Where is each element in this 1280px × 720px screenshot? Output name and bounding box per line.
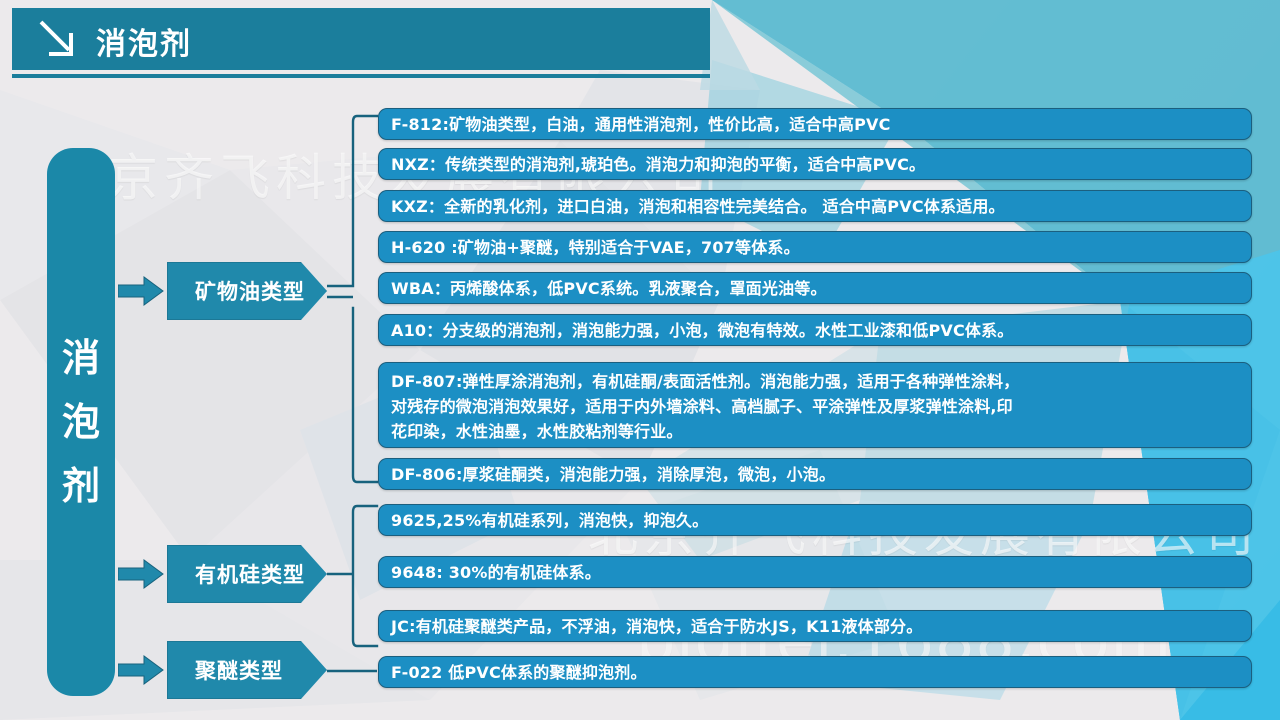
detail-text-2: KXZ：全新的乳化剂，进口白油，消泡和相容性完美结合。 适合中高PVC体系适用。 xyxy=(391,196,1005,217)
detail-box-8[interactable]: 9625,25%有机硅系列，消泡快，抑泡久。 xyxy=(378,504,1252,536)
detail-box-9[interactable]: 9648: 30%的有机硅体系。 xyxy=(378,556,1252,588)
category-label-1: 有机硅类型 xyxy=(195,559,305,589)
category-node-silicone[interactable]: 有机硅类型 xyxy=(167,545,327,603)
detail-text-11: F-022 低PVC体系的聚醚抑泡剂。 xyxy=(391,662,647,683)
bracket-group-silicone xyxy=(327,502,379,650)
detail-box-3[interactable]: H-620 :矿物油+聚醚，特别适合于VAE，707等体系。 xyxy=(378,231,1252,263)
detail-text-5: A10：分支级的消泡剂，消泡能力强，小泡，微泡有特效。水性工业漆和低PVC体系。 xyxy=(391,320,1014,341)
detail-box-1[interactable]: NXZ：传统类型的消泡剂,琥珀色。消泡力和抑泡的平衡，适合中高PVC。 xyxy=(378,148,1252,180)
bracket-group-polyether xyxy=(327,660,379,682)
detail-text-9: 9648: 30%的有机硅体系。 xyxy=(391,562,601,583)
detail-box-2[interactable]: KXZ：全新的乳化剂，进口白油，消泡和相容性完美结合。 适合中高PVC体系适用。 xyxy=(378,190,1252,222)
diagonal-down-right-arrow-icon xyxy=(38,20,80,60)
category-label-0: 矿物油类型 xyxy=(195,276,305,306)
page-title: 消泡剂 xyxy=(96,19,192,63)
detail-text-0: F-812:矿物油类型，白油，通用性消泡剂，性价比高，适合中高PVC xyxy=(391,114,891,135)
detail-box-10[interactable]: JC:有机硅聚醚类产品，不浮油，消泡快，适合于防水JS，K11液体部分。 xyxy=(378,610,1252,642)
category-label-2: 聚醚类型 xyxy=(195,655,283,685)
root-char-1: 消 xyxy=(62,339,100,377)
detail-box-6[interactable]: DF-807:弹性厚涂消泡剂，有机硅酮/表面活性剂。消泡能力强，适用于各种弹性涂… xyxy=(378,362,1252,448)
detail-box-5[interactable]: A10：分支级的消泡剂，消泡能力强，小泡，微泡有特效。水性工业漆和低PVC体系。 xyxy=(378,314,1252,346)
category-node-polyether[interactable]: 聚醚类型 xyxy=(167,641,327,699)
connector-arrow-3-icon xyxy=(118,655,164,685)
connector-arrow-2-icon xyxy=(118,559,164,589)
connector-arrow-1-icon xyxy=(118,276,164,306)
slide-canvas: 北京齐飞科技发展有限公司 北京齐飞科技发展有限公司 bjqifei.1688.c… xyxy=(0,0,1280,720)
category-node-mineral-oil[interactable]: 矿物油类型 xyxy=(167,262,327,320)
detail-box-11[interactable]: F-022 低PVC体系的聚醚抑泡剂。 xyxy=(378,656,1252,688)
detail-text-8: 9625,25%有机硅系列，消泡快，抑泡久。 xyxy=(391,510,708,531)
root-node[interactable]: 消 泡 剂 xyxy=(47,148,115,696)
header-underline xyxy=(12,74,710,78)
detail-text-7: DF-806:厚浆硅酮类，消泡能力强，消除厚泡，微泡，小泡。 xyxy=(391,464,835,485)
bracket-group-mineral-oil xyxy=(327,112,379,492)
root-char-3: 剂 xyxy=(62,467,100,505)
detail-text-3: H-620 :矿物油+聚醚，特别适合于VAE，707等体系。 xyxy=(391,237,800,258)
detail-text-10: JC:有机硅聚醚类产品，不浮油，消泡快，适合于防水JS，K11液体部分。 xyxy=(391,616,922,637)
detail-box-4[interactable]: WBA：丙烯酸体系，低PVC系统。乳液聚合，罩面光油等。 xyxy=(378,272,1252,304)
detail-box-7[interactable]: DF-806:厚浆硅酮类，消泡能力强，消除厚泡，微泡，小泡。 xyxy=(378,458,1252,490)
detail-box-0[interactable]: F-812:矿物油类型，白油，通用性消泡剂，性价比高，适合中高PVC xyxy=(378,108,1252,140)
root-char-2: 泡 xyxy=(62,403,100,441)
detail-text-6: DF-807:弹性厚涂消泡剂，有机硅酮/表面活性剂。消泡能力强，适用于各种弹性涂… xyxy=(391,369,1019,444)
detail-text-1: NXZ：传统类型的消泡剂,琥珀色。消泡力和抑泡的平衡，适合中高PVC。 xyxy=(391,154,925,175)
detail-text-4: WBA：丙烯酸体系，低PVC系统。乳液聚合，罩面光油等。 xyxy=(391,278,827,299)
